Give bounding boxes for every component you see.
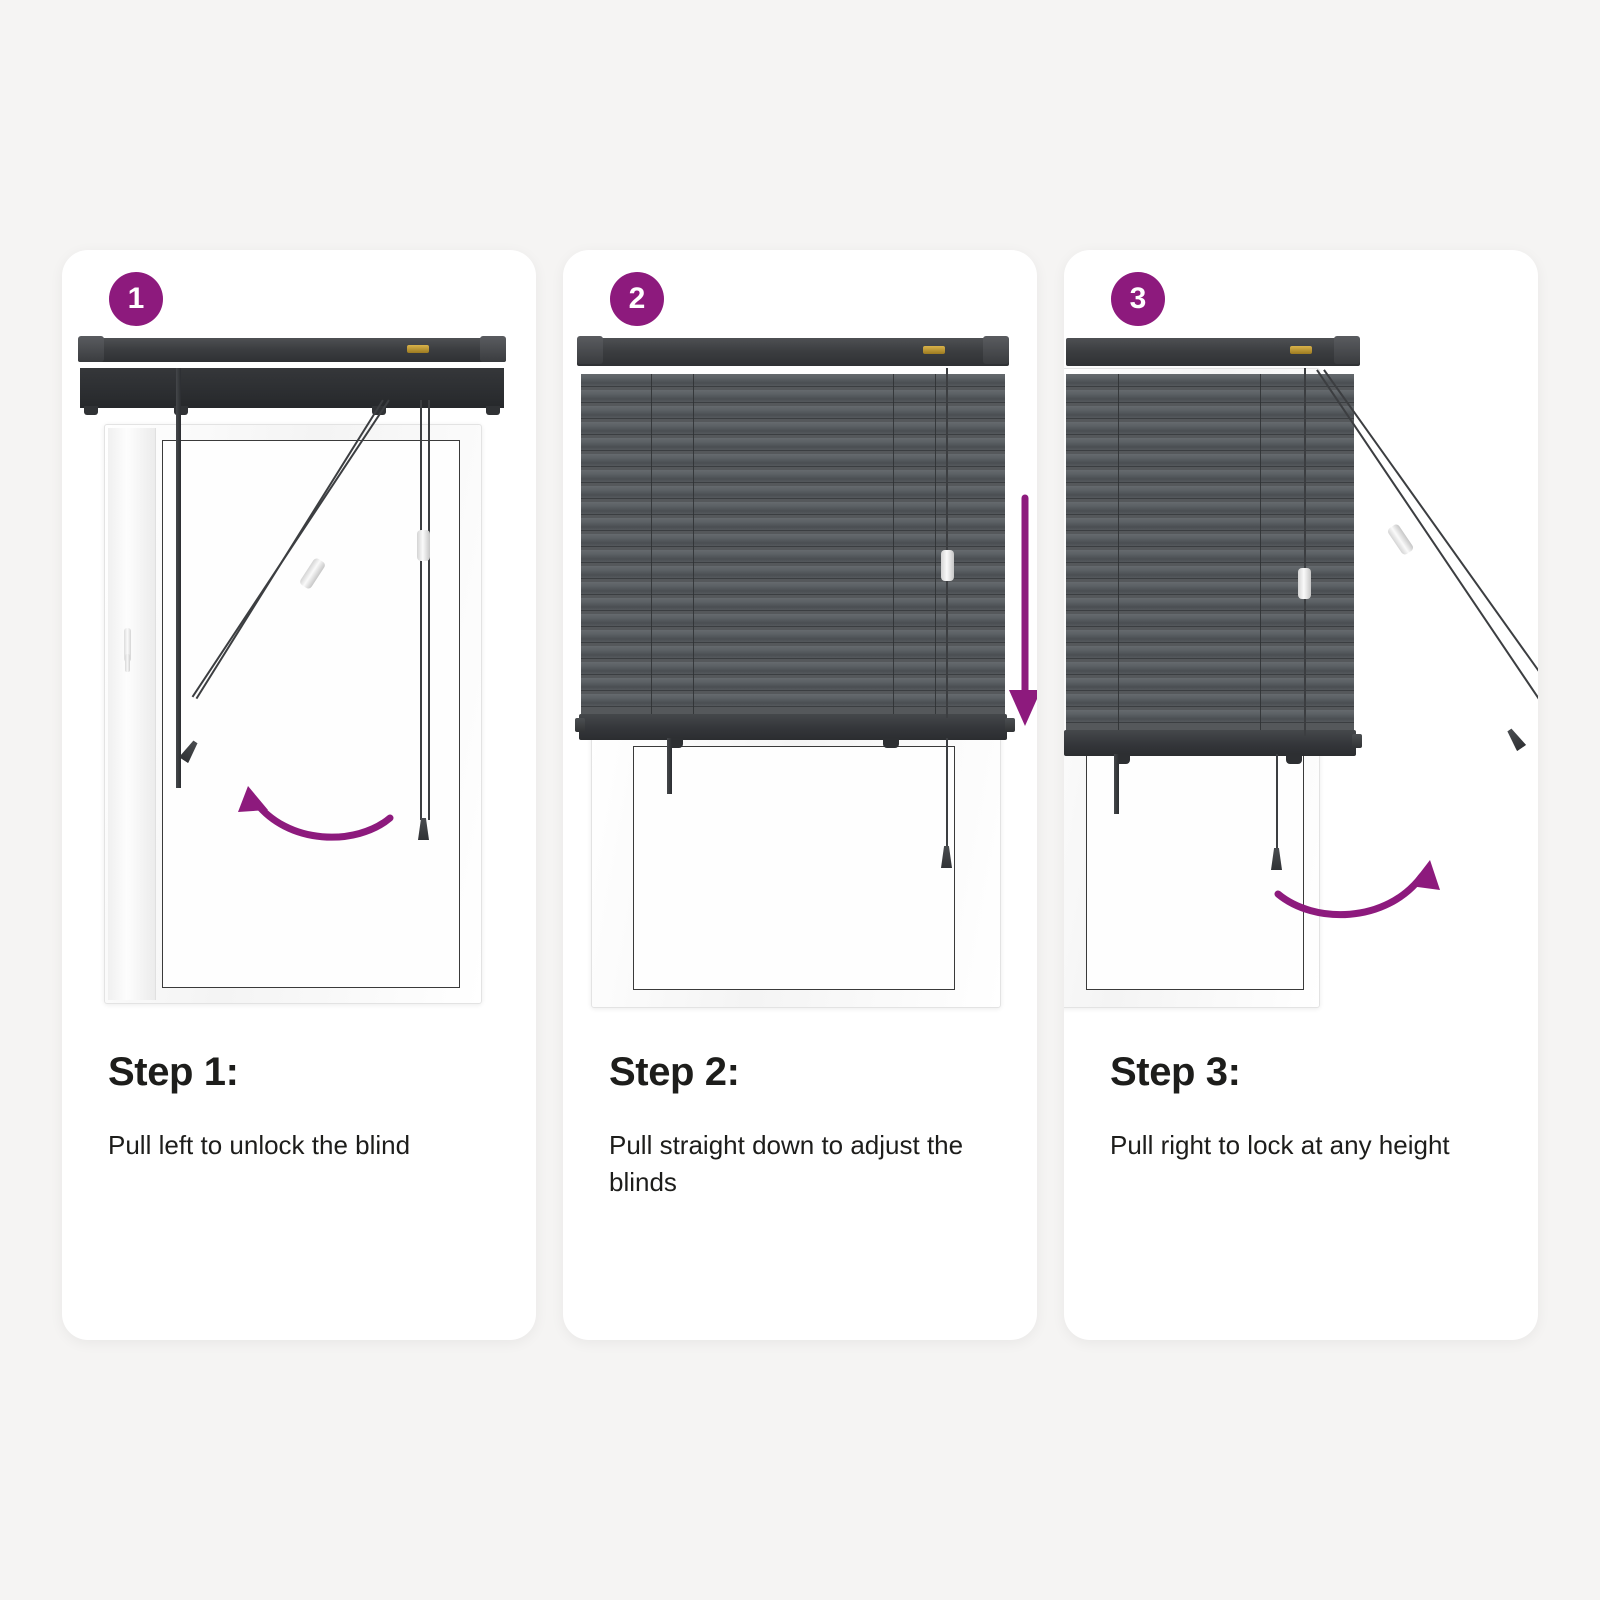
ladder-string-left (1118, 374, 1119, 730)
ladder-string-right2 (935, 374, 936, 714)
caption-step-1: Step 1: Pull left to unlock the blind (108, 1050, 502, 1164)
steps-board: 1 (0, 0, 1600, 1600)
motion-arrow-curved-left (172, 718, 402, 848)
window-glass (162, 440, 460, 988)
step-badge-3: 3 (1111, 272, 1165, 326)
lift-cord-vertical-a (420, 400, 422, 820)
step-card-2: 2 (563, 250, 1037, 1340)
illustration-step-1 (62, 328, 536, 1028)
headrail-cap-right (1334, 336, 1360, 364)
window-handle (124, 628, 131, 662)
lift-cord-vertical-b (428, 400, 430, 820)
blind-bottom-rail (1064, 730, 1356, 756)
step-body: Pull right to lock at any height (1110, 1127, 1504, 1164)
headrail-cap-left (78, 336, 104, 362)
bottom-rail-endcap-left (575, 718, 585, 732)
window-glass (633, 746, 955, 990)
headrail (1066, 338, 1360, 366)
blind-bottom-rail (579, 714, 1007, 740)
rail-bracket-left (84, 406, 98, 415)
step-title: Step 2: (609, 1050, 1003, 1095)
motion-arrow-curved-right (1264, 798, 1504, 928)
step-body: Pull straight down to adjust the blinds (609, 1127, 1003, 1201)
cord-tassel-angled (1505, 727, 1526, 751)
tilt-mechanism-icon (923, 346, 945, 354)
step-title: Step 3: (1110, 1050, 1504, 1095)
lift-cord-inner (1304, 368, 1306, 736)
tilt-mechanism-icon (1290, 346, 1312, 354)
ladder-string-left2 (1260, 374, 1261, 730)
illustration-step-3 (1064, 328, 1538, 1028)
illustration-step-2 (563, 328, 1037, 1028)
step-title: Step 1: (108, 1050, 502, 1095)
blind-slats (581, 374, 1005, 714)
headrail-cap-left (577, 336, 603, 364)
step-card-1: 1 (62, 250, 536, 1340)
cord-stop-inner (1298, 568, 1311, 599)
step-badge-2: 2 (610, 272, 664, 326)
step-badge-1: 1 (109, 272, 163, 326)
ladder-string-mid (693, 374, 694, 714)
step-card-3: 3 (1064, 250, 1538, 1340)
blind-slats (1066, 374, 1354, 730)
tilt-wand (667, 738, 672, 794)
ladder-string-left (651, 374, 652, 714)
bottom-rail-foot-right (883, 738, 899, 748)
headrail (78, 338, 506, 362)
tilt-wand (1114, 754, 1119, 814)
headrail-valance (80, 368, 504, 408)
motion-arrow-down (1005, 494, 1037, 734)
lift-cord-angled-b (1323, 370, 1538, 697)
rail-bracket-right (486, 406, 500, 415)
step-body: Pull left to unlock the blind (108, 1127, 502, 1164)
bottom-rail-foot-right (1286, 754, 1302, 764)
lift-cord-below-rail (946, 738, 948, 848)
lift-cord-vertical (946, 368, 948, 718)
caption-step-2: Step 2: Pull straight down to adjust the… (609, 1050, 1003, 1201)
cord-stop-vertical (417, 530, 430, 561)
ladder-string-right (893, 374, 894, 714)
caption-step-3: Step 3: Pull right to lock at any height (1110, 1050, 1504, 1164)
bottom-rail-endcap-right (1352, 734, 1362, 748)
tilt-mechanism-icon (407, 345, 429, 353)
cord-stop (941, 550, 954, 581)
cord-stop-angled (1386, 523, 1414, 556)
window-sash-left (108, 428, 156, 1000)
headrail-cap-right (983, 336, 1009, 364)
headrail-cap-right (480, 336, 506, 362)
